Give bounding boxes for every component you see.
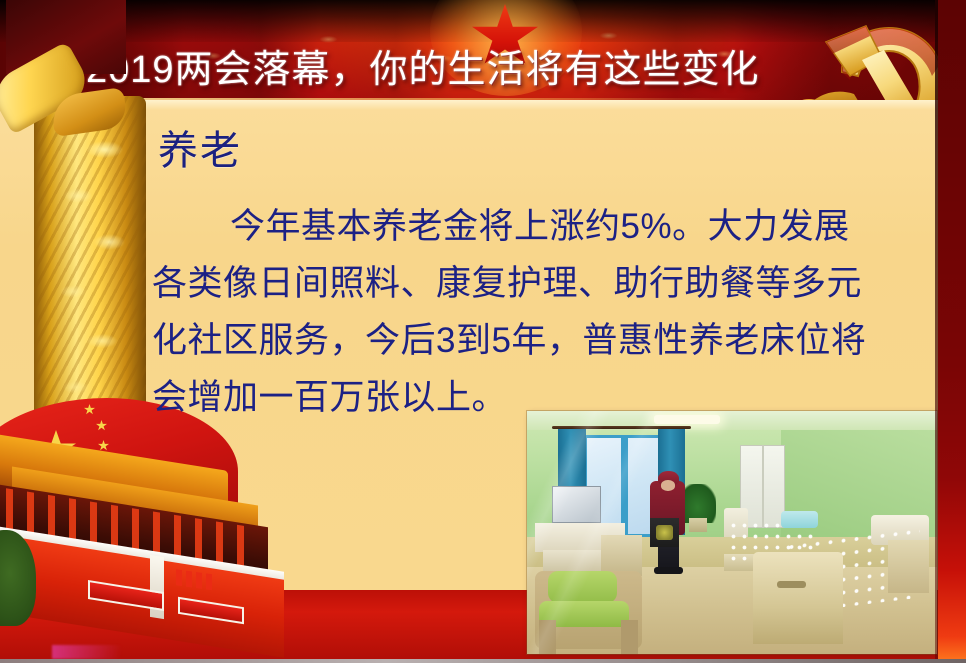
slide-title: 2019两会落幕，你的生活将有这些变化 bbox=[86, 44, 892, 96]
photo-glare bbox=[527, 411, 937, 654]
bottom-watermark bbox=[52, 645, 122, 659]
section-heading: 养老 bbox=[158, 124, 242, 178]
body-line: 各类像日间照料、康复护理、助行助餐等多元 bbox=[152, 255, 914, 312]
presentation-slide: 2019两会落幕，你的生活将有这些变化 养老 今年基本养老金将上涨约5%。大力发… bbox=[0, 0, 966, 663]
body-paragraph: 今年基本养老金将上涨约5%。大力发展 各类像日间照料、康复护理、助行助餐等多元 … bbox=[152, 198, 914, 426]
slide-title-bar: 2019两会落幕，你的生活将有这些变化 bbox=[86, 44, 892, 98]
body-line: 今年基本养老金将上涨约5%。大力发展 bbox=[152, 198, 914, 255]
pillar-dragon-carving bbox=[30, 110, 150, 440]
nursing-home-photo bbox=[527, 411, 937, 654]
body-line: 化社区服务，今后3到5年，普惠性养老床位将 bbox=[152, 312, 914, 369]
bottom-edge-bar bbox=[0, 659, 966, 663]
right-red-band bbox=[938, 0, 966, 663]
